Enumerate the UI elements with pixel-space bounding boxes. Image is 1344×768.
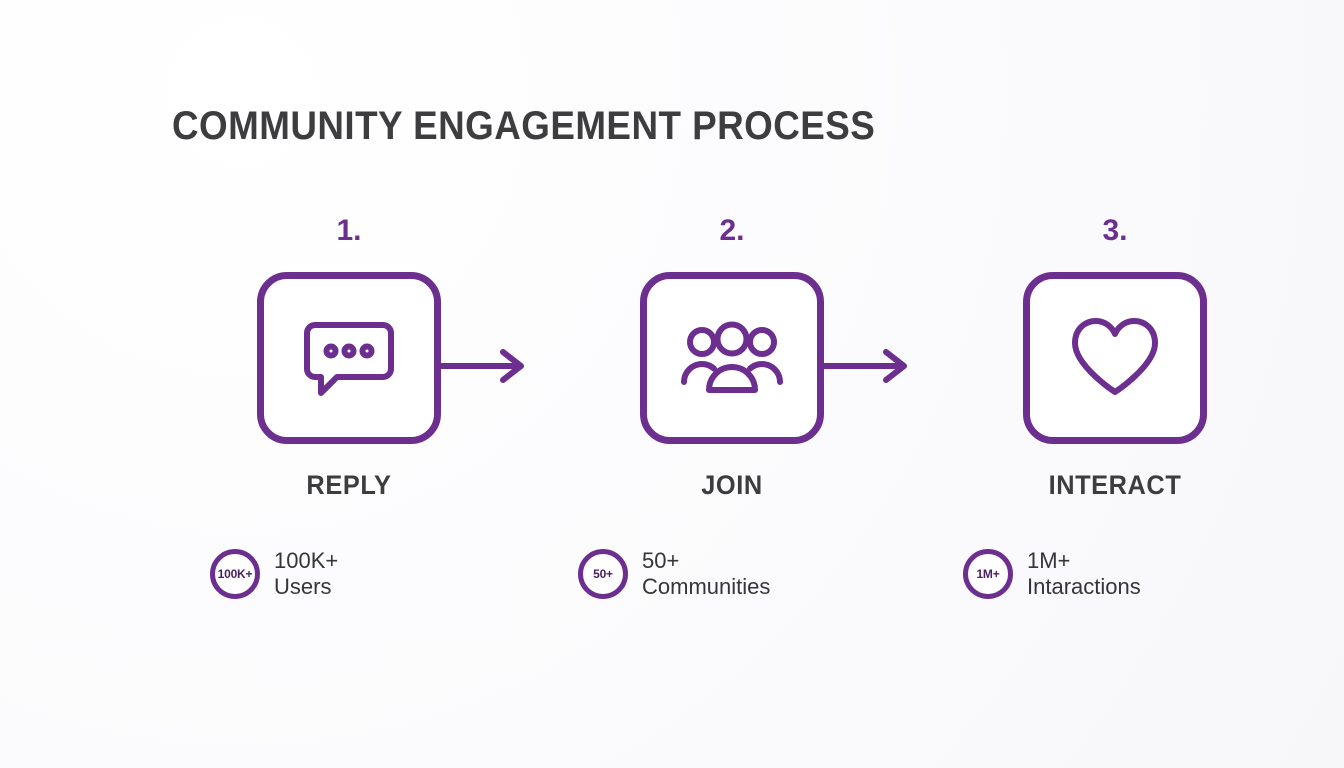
step-card[interactable]	[1023, 272, 1207, 444]
stat-value: 1M+	[1027, 548, 1141, 574]
stat-item-interactions[interactable]: 1M+ 1M+ Intaractions	[963, 548, 1141, 600]
stat-item-communities[interactable]: 50+ 50+ Communities	[578, 548, 770, 600]
stat-badge: 50+	[578, 549, 628, 599]
step-number: 3.	[995, 216, 1235, 250]
step-number: 2.	[612, 216, 852, 250]
process-step-reply[interactable]: 1. REPLY	[229, 216, 469, 501]
people-group-icon	[680, 320, 784, 396]
arrow-right-icon	[820, 373, 916, 390]
stats-row: 100K+ 100K+ Users 50+ 50+ Communities 1M…	[172, 548, 1172, 628]
process-step-join[interactable]: 2. JOIN	[612, 216, 852, 501]
stat-text: 1M+ Intaractions	[1027, 548, 1141, 600]
stat-badge: 1M+	[963, 549, 1013, 599]
process-step-interact[interactable]: 3. INTERACT	[995, 216, 1235, 501]
connector-arrow-1	[437, 346, 533, 386]
infographic-canvas: COMMUNITY ENGAGEMENT PROCESS 1. REPLY 2.	[0, 0, 1344, 768]
connector-arrow-2	[820, 346, 916, 386]
step-label: REPLY	[236, 470, 462, 501]
chat-bubble-dots-icon	[301, 315, 397, 401]
stat-value: 100K+	[274, 548, 338, 574]
step-number: 1.	[229, 216, 469, 250]
heart-outline-icon	[1069, 316, 1161, 400]
stat-value: 50+	[642, 548, 770, 574]
stat-caption: Users	[274, 574, 338, 600]
stat-badge-label: 1M+	[976, 567, 999, 581]
process-steps: 1. REPLY 2.	[172, 216, 1172, 516]
stat-badge: 100K+	[210, 549, 260, 599]
stat-text: 50+ Communities	[642, 548, 770, 600]
stat-item-users[interactable]: 100K+ 100K+ Users	[210, 548, 338, 600]
stat-text: 100K+ Users	[274, 548, 338, 600]
stat-badge-label: 50+	[593, 567, 613, 581]
step-label: JOIN	[619, 470, 845, 501]
arrow-right-icon	[437, 373, 533, 390]
stat-caption: Communities	[642, 574, 770, 600]
step-label: INTERACT	[1002, 470, 1228, 501]
page-title: COMMUNITY ENGAGEMENT PROCESS	[172, 104, 875, 149]
stat-badge-label: 100K+	[218, 567, 253, 581]
step-card[interactable]	[257, 272, 441, 444]
stat-caption: Intaractions	[1027, 574, 1141, 600]
step-card[interactable]	[640, 272, 824, 444]
